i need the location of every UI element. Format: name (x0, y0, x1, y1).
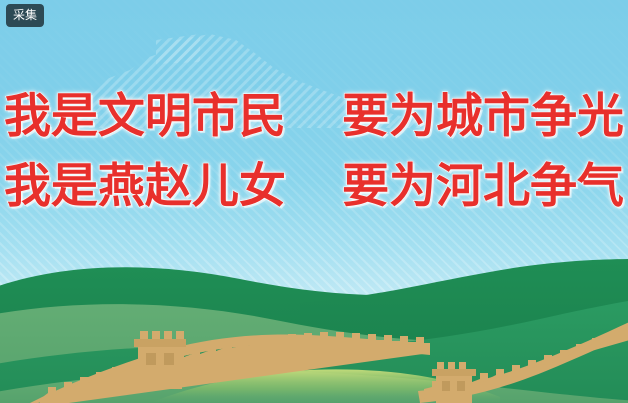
banner-screenshot: 我是文明市民 要为城市争光 我是燕赵儿女 要为河北争气 采集 (0, 0, 628, 403)
watchtower-left (134, 331, 186, 389)
rolling-hills-landscape (0, 243, 628, 403)
great-wall-watermark-icon (60, 18, 480, 128)
capture-button[interactable]: 采集 (6, 4, 44, 27)
